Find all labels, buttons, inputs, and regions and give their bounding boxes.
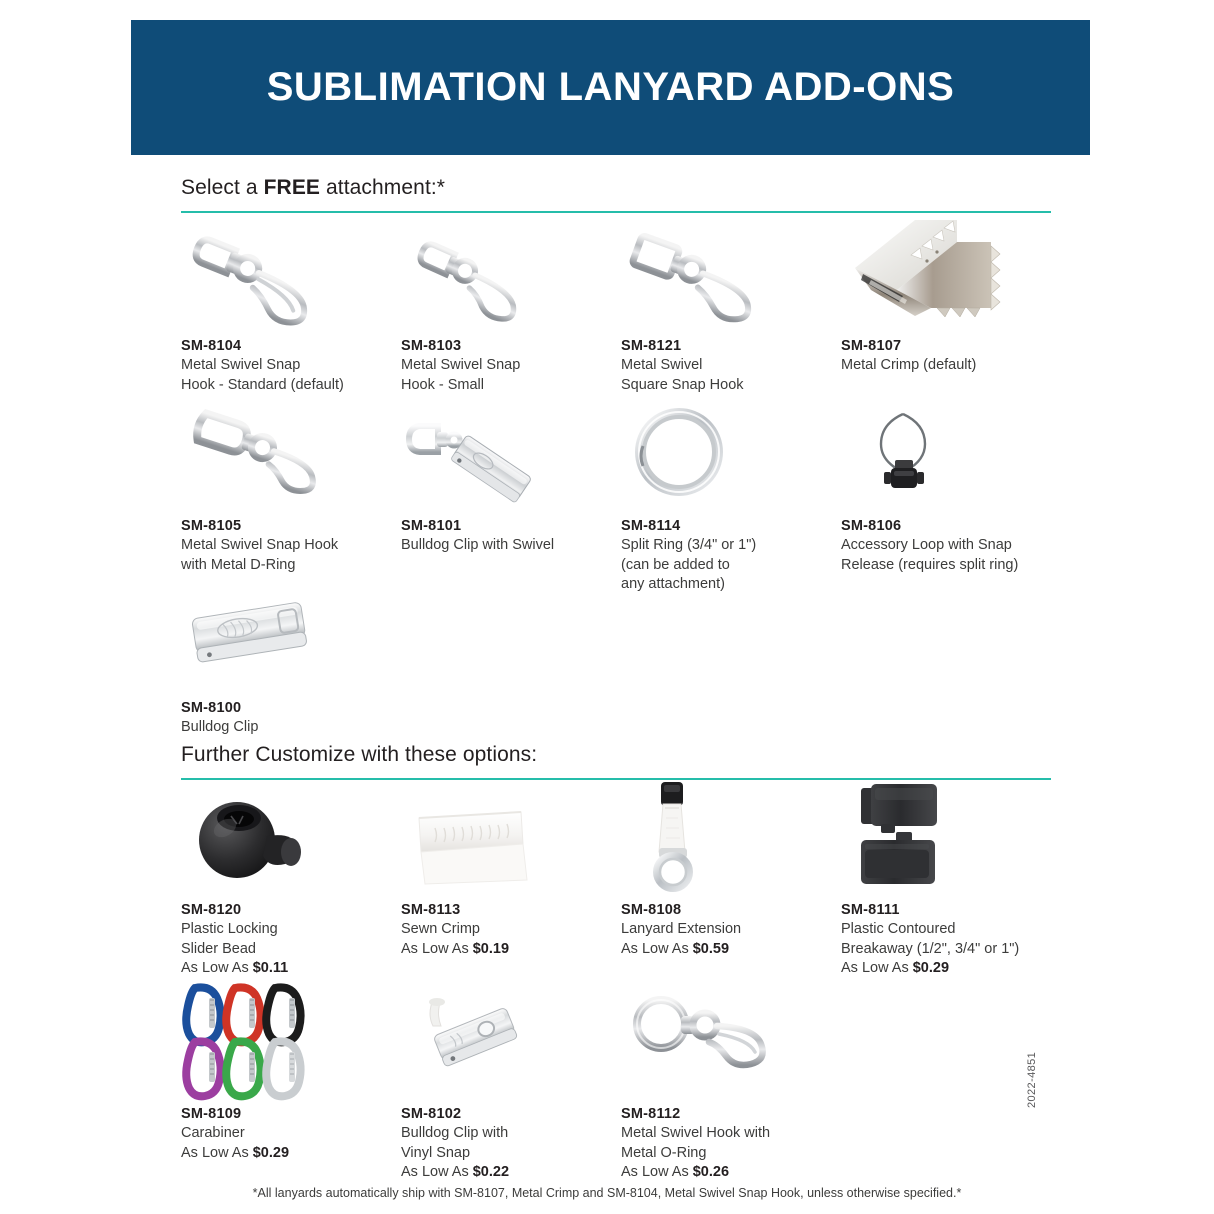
- section-heading-customize-text: Further Customize with these options:: [181, 743, 1051, 767]
- heading-pre: Select a: [181, 176, 264, 199]
- price-value: $0.26: [693, 1164, 729, 1180]
- product-sku: SM-8103: [401, 338, 621, 354]
- product-card-sm-8114[interactable]: SM-8114 Split Ring (3/4" or 1") (can be …: [621, 404, 841, 595]
- section-divider-customize: [181, 778, 1051, 780]
- product-price: As Low As $0.29: [841, 959, 1061, 979]
- product-sku: SM-8112: [621, 1106, 841, 1122]
- product-card-sm-8105[interactable]: SM-8105 Metal Swivel Snap Hook with Meta…: [181, 404, 401, 595]
- product-price: As Low As $0.22: [401, 1163, 621, 1183]
- swivel-snap-hook-dring-icon: [181, 404, 351, 504]
- product-image-sm-8105: [181, 404, 381, 504]
- product-image-sm-8113: [401, 788, 601, 888]
- sewn-crimp-icon: [401, 788, 571, 888]
- product-card-sm-8113[interactable]: SM-8113 Sewn Crimp As Low As $0.19: [401, 788, 621, 979]
- product-sku: SM-8101: [401, 518, 621, 534]
- product-price: As Low As $0.26: [621, 1163, 841, 1183]
- product-price: As Low As $0.59: [621, 940, 841, 960]
- price-value: $0.59: [693, 941, 729, 957]
- bulldog-clip-vinyl-snap-icon: [401, 982, 571, 1092]
- product-image-sm-8103: [401, 224, 601, 324]
- product-card-sm-8106[interactable]: SM-8106 Accessory Loop with Snap Release…: [841, 404, 1061, 595]
- product-card-sm-8100[interactable]: SM-8100 Bulldog Clip: [181, 586, 401, 738]
- product-image-sm-8120: [181, 788, 381, 888]
- product-sku: SM-8100: [181, 700, 401, 716]
- product-sku: SM-8121: [621, 338, 841, 354]
- footer-disclaimer: *All lanyards automatically ship with SM…: [0, 1186, 1214, 1200]
- product-desc: Metal Swivel Square Snap Hook: [621, 356, 841, 395]
- product-card-sm-8101[interactable]: SM-8101 Bulldog Clip with Swivel: [401, 404, 621, 595]
- product-desc: Plastic Locking Slider Bead: [181, 920, 401, 959]
- product-card-empty-2: [621, 586, 841, 738]
- product-desc: Metal Crimp (default): [841, 356, 1061, 376]
- swivel-snap-hook-small-icon: [401, 224, 571, 324]
- product-sku: SM-8106: [841, 518, 1061, 534]
- product-price: As Low As $0.29: [181, 1144, 401, 1164]
- product-desc: Metal Swivel Snap Hook - Small: [401, 356, 621, 395]
- product-card-sm-8108[interactable]: SM-8108 Lanyard Extension As Low As $0.5…: [621, 788, 841, 979]
- product-card-sm-8103[interactable]: SM-8103 Metal Swivel Snap Hook - Small: [401, 224, 621, 395]
- page-title: SUBLIMATION LANYARD ADD-ONS: [267, 65, 955, 110]
- product-image-sm-8114: [621, 404, 821, 504]
- product-desc: Accessory Loop with Snap Release (requir…: [841, 536, 1061, 575]
- price-label: As Low As: [401, 1164, 473, 1180]
- bulldog-clip-swivel-icon: [401, 404, 571, 504]
- product-image-sm-8104: [181, 224, 381, 324]
- product-desc: Lanyard Extension: [621, 920, 841, 940]
- free-attachments-row-3: SM-8100 Bulldog Clip: [181, 586, 1061, 738]
- lanyard-extension-icon: [621, 776, 791, 894]
- product-desc: Metal Swivel Hook with Metal O-Ring: [621, 1124, 841, 1163]
- customize-row-2: SM-8109 Carabiner As Low As $0.29: [181, 982, 1061, 1183]
- product-card-sm-8102[interactable]: SM-8102 Bulldog Clip with Vinyl Snap As …: [401, 982, 621, 1183]
- product-desc: Plastic Contoured Breakaway (1/2", 3/4" …: [841, 920, 1061, 959]
- product-sku: SM-8108: [621, 902, 841, 918]
- product-card-sm-8107[interactable]: SM-8107 Metal Crimp (default): [841, 224, 1061, 395]
- product-desc: Bulldog Clip with Vinyl Snap: [401, 1124, 621, 1163]
- plastic-locking-slider-bead-icon: [181, 788, 351, 888]
- free-attachments-row-2: SM-8105 Metal Swivel Snap Hook with Meta…: [181, 404, 1061, 595]
- split-ring-icon: [621, 404, 791, 504]
- product-image-sm-8106: [841, 404, 1041, 504]
- price-label: As Low As: [401, 941, 473, 957]
- product-desc: Metal Swivel Snap Hook - Standard (defau…: [181, 356, 401, 395]
- product-sku: SM-8114: [621, 518, 841, 534]
- section-heading-free: Select a FREE attachment:*: [181, 176, 1051, 213]
- document-code: 2022-4851: [1026, 1052, 1038, 1108]
- accessory-loop-snap-release-icon: [841, 404, 1011, 504]
- product-card-empty-1: [401, 586, 621, 738]
- heading-post: attachment:*: [320, 176, 445, 199]
- product-sku: SM-8111: [841, 902, 1061, 918]
- product-image-sm-8100: [181, 586, 381, 686]
- bulldog-clip-icon: [181, 586, 351, 686]
- swivel-square-snap-hook-icon: [621, 224, 791, 324]
- page-root: SUBLIMATION LANYARD ADD-ONS Select a FRE…: [0, 0, 1214, 1214]
- metal-crimp-icon: [841, 212, 1011, 324]
- product-sku: SM-8105: [181, 518, 401, 534]
- product-card-sm-8121[interactable]: SM-8121 Metal Swivel Square Snap Hook: [621, 224, 841, 395]
- product-image-sm-8111: [841, 788, 1041, 888]
- price-label: As Low As: [181, 960, 253, 976]
- plastic-contoured-breakaway-icon: [841, 782, 1011, 892]
- product-card-empty-3: [841, 586, 1061, 738]
- product-image-sm-8112: [621, 982, 821, 1092]
- section-heading-customize: Further Customize with these options:: [181, 743, 1051, 780]
- product-price: As Low As $0.19: [401, 940, 621, 960]
- product-card-sm-8112[interactable]: SM-8112 Metal Swivel Hook with Metal O-R…: [621, 982, 841, 1183]
- product-sku: SM-8109: [181, 1106, 401, 1122]
- product-card-sm-8120[interactable]: SM-8120 Plastic Locking Slider Bead As L…: [181, 788, 401, 979]
- price-value: $0.29: [913, 960, 949, 976]
- price-label: As Low As: [621, 1164, 693, 1180]
- product-card-sm-8111[interactable]: SM-8111 Plastic Contoured Breakaway (1/2…: [841, 788, 1061, 979]
- product-desc: Bulldog Clip: [181, 718, 401, 738]
- swivel-hook-oring-icon: [621, 982, 791, 1092]
- product-desc: Sewn Crimp: [401, 920, 621, 940]
- page-banner: SUBLIMATION LANYARD ADD-ONS: [131, 20, 1090, 155]
- product-image-sm-8121: [621, 224, 821, 324]
- price-label: As Low As: [841, 960, 913, 976]
- free-attachments-row-1: SM-8104 Metal Swivel Snap Hook - Standar…: [181, 224, 1061, 395]
- price-label: As Low As: [181, 1145, 253, 1161]
- price-value: $0.19: [473, 941, 509, 957]
- section-heading-free-text: Select a FREE attachment:*: [181, 176, 1051, 200]
- product-image-sm-8101: [401, 404, 601, 504]
- product-desc: Bulldog Clip with Swivel: [401, 536, 621, 556]
- carabiner-icon: [181, 982, 351, 1092]
- product-image-sm-8108: [621, 788, 821, 888]
- product-card-sm-8109[interactable]: SM-8109 Carabiner As Low As $0.29: [181, 982, 401, 1183]
- price-value: $0.11: [253, 960, 289, 976]
- product-price: As Low As $0.11: [181, 959, 401, 979]
- product-desc: Metal Swivel Snap Hook with Metal D-Ring: [181, 536, 401, 575]
- customize-row-1: SM-8120 Plastic Locking Slider Bead As L…: [181, 788, 1061, 979]
- product-image-sm-8107: [841, 224, 1041, 324]
- product-sku: SM-8107: [841, 338, 1061, 354]
- product-desc: Carabiner: [181, 1124, 401, 1144]
- product-card-sm-8104[interactable]: SM-8104 Metal Swivel Snap Hook - Standar…: [181, 224, 401, 395]
- product-image-sm-8102: [401, 982, 601, 1092]
- product-sku: SM-8120: [181, 902, 401, 918]
- price-label: As Low As: [621, 941, 693, 957]
- price-value: $0.22: [473, 1164, 509, 1180]
- product-image-sm-8109: [181, 982, 381, 1092]
- product-sku: SM-8104: [181, 338, 401, 354]
- price-value: $0.29: [253, 1145, 289, 1161]
- swivel-snap-hook-standard-icon: [181, 224, 351, 324]
- product-sku: SM-8102: [401, 1106, 621, 1122]
- heading-bold: FREE: [264, 176, 320, 199]
- product-sku: SM-8113: [401, 902, 621, 918]
